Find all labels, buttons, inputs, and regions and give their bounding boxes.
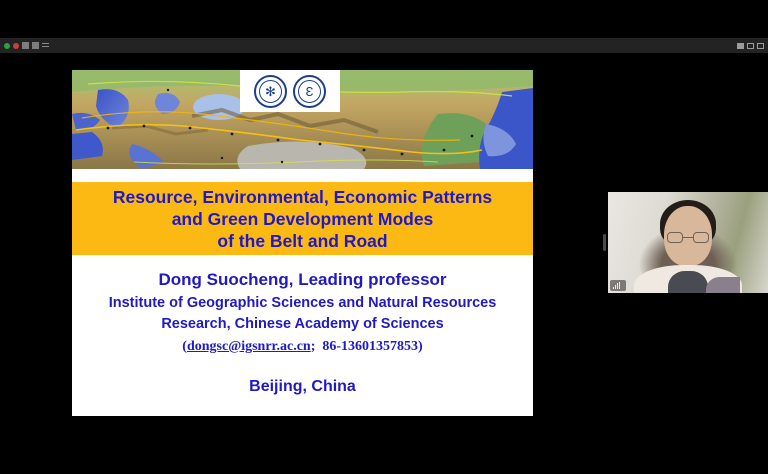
glasses-lens-left (667, 232, 683, 243)
slide-title-line-3: of the Belt and Road (217, 230, 387, 252)
list-view-icon[interactable] (42, 42, 49, 49)
audio-level-bars-icon (613, 282, 620, 289)
slide-title-banner: Resource, Environmental, Economic Patter… (72, 182, 533, 255)
app-toolbar[interactable] (0, 38, 768, 53)
participant-video-tile[interactable] (608, 192, 768, 293)
minimize-icon[interactable] (737, 43, 744, 49)
window-controls[interactable] (737, 38, 764, 53)
institution-logos: ✻ Ɛ (240, 70, 340, 112)
participant-shoulders (634, 265, 742, 293)
author-phone: 86-13601357853 (322, 339, 418, 354)
glasses-icon (667, 232, 709, 243)
author-name: Dong Suocheng, Leading professor (72, 266, 533, 293)
video-conference-window: ✻ Ɛ Resource, Environmental, Economic Pa… (0, 0, 768, 474)
video-panel-collapse-handle[interactable] (603, 234, 606, 251)
contact-separator: ; (311, 339, 316, 354)
slide-title-line-1: Resource, Environmental, Economic Patter… (113, 186, 492, 208)
speaker-view-icon[interactable] (32, 42, 39, 49)
glasses-lens-right (693, 232, 709, 243)
grid-view-icon[interactable] (22, 42, 29, 49)
slide-map-banner: ✻ Ɛ (72, 70, 533, 169)
close-icon[interactable] (757, 43, 764, 49)
author-email[interactable]: dongsc@igsnrr.ac.cn (187, 339, 311, 354)
status-online-indicator (4, 43, 10, 49)
author-city: Beijing, China (72, 377, 533, 397)
affiliation-line-1: Institute of Geographic Sciences and Nat… (72, 293, 533, 314)
toolbar-left-group (0, 42, 52, 49)
maximize-icon[interactable] (747, 43, 754, 49)
shared-slide[interactable]: ✻ Ɛ Resource, Environmental, Economic Pa… (72, 70, 533, 416)
meeting-stage: ✻ Ɛ Resource, Environmental, Economic Pa… (0, 53, 768, 474)
glasses-bridge (683, 237, 693, 238)
slide-author-block: Dong Suocheng, Leading professor Institu… (72, 266, 533, 397)
window-title-bar (0, 0, 768, 38)
institute-emblem-icon: Ɛ (293, 75, 326, 108)
emblem-glyph: ✻ (263, 84, 278, 99)
emblem-glyph: Ɛ (302, 84, 317, 99)
video-feed (608, 192, 768, 293)
slide-title-line-2: and Green Development Modes (172, 208, 434, 230)
chinese-academy-of-sciences-emblem-icon: ✻ (254, 75, 287, 108)
contact-line: (dongsc@igsnrr.ac.cn; 86-13601357853) (72, 335, 533, 359)
contact-paren-close: ) (418, 339, 423, 354)
affiliation-line-2: Research, Chinese Academy of Sciences (72, 314, 533, 335)
record-indicator-icon[interactable] (13, 43, 19, 49)
participant-name-plate (610, 280, 626, 291)
